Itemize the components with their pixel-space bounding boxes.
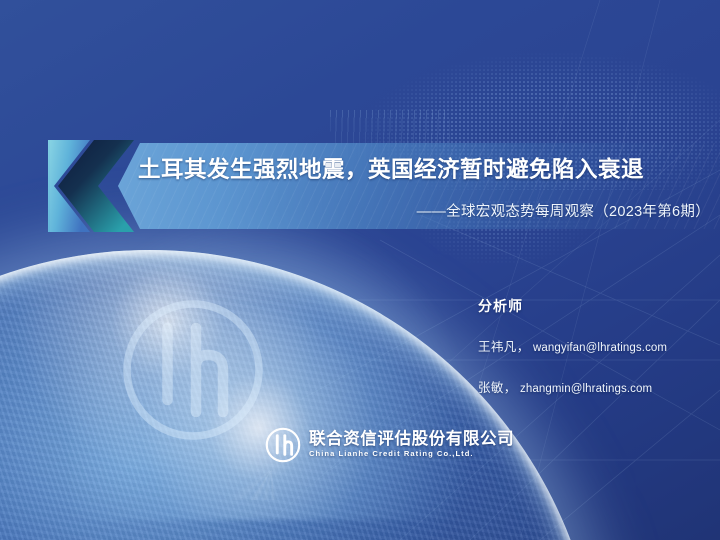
analyst-heading: 分析师 [478, 296, 716, 316]
analyst-block: 分析师 王祎凡， wangyifan@lhratings.com 张敏， zha… [478, 296, 716, 418]
presentation-slide: 土耳其发生强烈地震，英国经济暂时避免陷入衰退 ——全球宏观态势每周观察（2023… [0, 0, 720, 540]
company-wordmark: 联合资信评估股份有限公司 China Lianhe Credit Rating … [309, 431, 514, 459]
company-logo: 联合资信评估股份有限公司 China Lianhe Credit Rating … [265, 427, 514, 463]
analyst-name: 张敏， [478, 381, 517, 395]
company-name-cn: 联合资信评估股份有限公司 [309, 431, 514, 449]
analyst-row: 王祎凡， wangyifan@lhratings.com [478, 336, 716, 355]
analyst-row: 张敏， zhangmin@lhratings.com [478, 377, 716, 396]
company-name-en: China Lianhe Credit Rating Co.,Ltd. [309, 449, 514, 459]
lh-logo-mark-icon [265, 427, 301, 463]
analyst-name: 王祎凡， [478, 340, 530, 354]
analyst-email[interactable]: zhangmin@lhratings.com [520, 383, 652, 395]
analyst-email[interactable]: wangyifan@lhratings.com [533, 342, 667, 354]
watermark-lh-logo-icon [118, 295, 268, 445]
slide-title: 土耳其发生强烈地震，英国经济暂时避免陷入衰退 [138, 152, 700, 184]
slide-subtitle: ——全球宏观态势每周观察（2023年第6期） [150, 200, 710, 221]
